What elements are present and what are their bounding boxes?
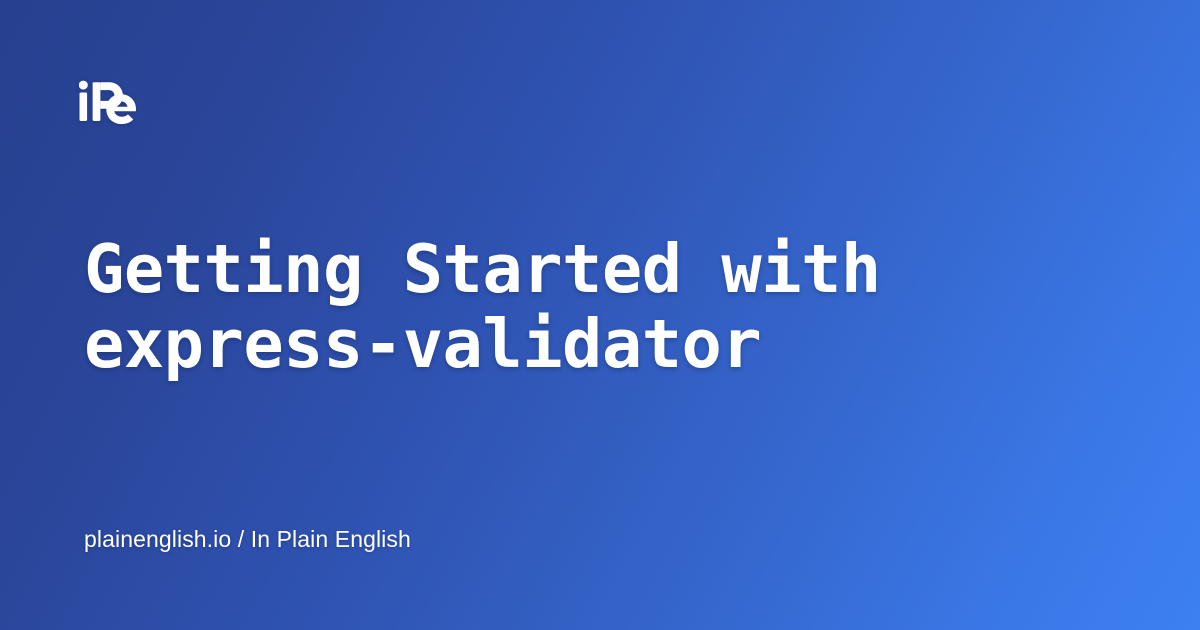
publication-credit: plainenglish.io / In Plain English bbox=[84, 524, 411, 554]
in-plain-english-logo[interactable] bbox=[79, 79, 137, 125]
page-title: Getting Started with express-validator bbox=[84, 232, 1114, 382]
open-graph-card: Getting Started with express-validator p… bbox=[0, 0, 1200, 630]
